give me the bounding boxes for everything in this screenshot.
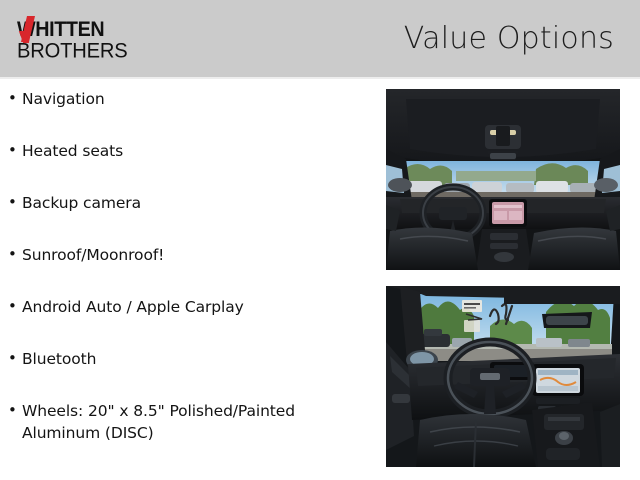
list-item-label: Wheels: 20" x 8.5" Polished/Painted Alum… <box>22 400 372 444</box>
page-title: Value Options <box>404 22 614 56</box>
list-item: Android Auto / Apple Carplay <box>0 296 372 318</box>
list-item: Backup camera <box>0 192 372 214</box>
list-item-label: Android Auto / Apple Carplay <box>22 296 372 318</box>
list-item: Sunroof/Moonroof! <box>0 244 372 266</box>
list-item: Wheels: 20" x 8.5" Polished/Painted Alum… <box>0 400 372 444</box>
list-item-label: Heated seats <box>22 140 372 162</box>
list-item: Navigation <box>0 88 372 110</box>
header-divider <box>0 77 640 79</box>
vehicle-interior-rear-view-photo <box>386 89 620 270</box>
vehicle-interior-rear-view-graphic <box>386 89 620 270</box>
list-item-label: Sunroof/Moonroof! <box>22 244 372 266</box>
list-item-label: Bluetooth <box>22 348 372 370</box>
list-item-label: Backup camera <box>22 192 372 214</box>
whitten-brothers-logo: WHITTEN BROTHERS <box>17 19 113 61</box>
presentation-slide: WHITTEN BROTHERS Value Options Navigatio… <box>0 0 640 480</box>
list-item-label: Navigation <box>22 88 372 110</box>
logo-wordmark-brothers: BROTHERS <box>17 40 127 61</box>
list-item: Heated seats <box>0 140 372 162</box>
vehicle-dashboard-cockpit-graphic <box>386 286 620 467</box>
vehicle-dashboard-cockpit-photo <box>386 286 620 467</box>
list-item: Bluetooth <box>0 348 372 370</box>
feature-list: Navigation Heated seats Backup camera Su… <box>0 88 372 444</box>
